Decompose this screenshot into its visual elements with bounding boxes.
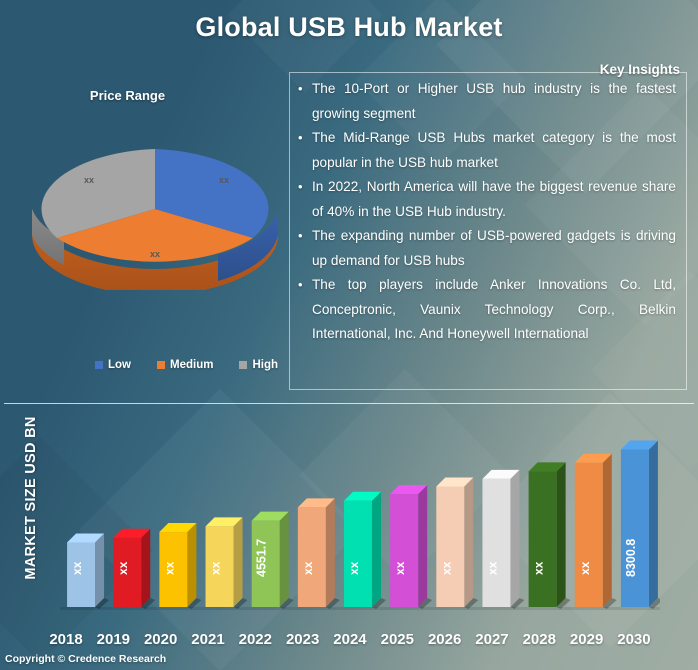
legend-item-medium[interactable]: Medium	[157, 359, 213, 371]
pie-chart-legend: Low Medium High	[95, 355, 295, 375]
bar-front-face	[575, 463, 603, 607]
x-tick-label: 2029	[566, 631, 608, 648]
bar-column: xx	[575, 454, 617, 609]
bar-chart-y-axis-label: MARKET SIZE USD BN	[23, 413, 39, 583]
bar-data-label: xx	[532, 561, 546, 575]
key-insights-title: Key Insights	[600, 62, 680, 77]
x-tick-label: 2024	[329, 631, 371, 648]
pie-chart-title: Price Range	[0, 88, 255, 103]
bar-side-face	[418, 485, 427, 607]
bar-data-label: xx	[439, 561, 453, 575]
x-tick-label: 2026	[424, 631, 466, 648]
bar-column: xx	[113, 529, 155, 609]
bar-data-label: xx	[578, 561, 592, 575]
bar-side-face	[234, 517, 243, 607]
bar-chart-baseline	[60, 607, 660, 610]
x-tick-label: 2025	[376, 631, 418, 648]
bar-data-label: 8300.8	[624, 539, 638, 577]
bar-side-face	[372, 492, 381, 607]
bar-front-face	[390, 494, 418, 607]
pie-slice-label: xx	[150, 249, 160, 259]
bar-chart-x-axis: 2018 2019 2020 2021 2022 2023 2024 2025 …	[45, 631, 655, 648]
legend-item-high[interactable]: High	[239, 359, 278, 371]
bar-column: xx	[390, 485, 432, 609]
bar-column: xx	[67, 533, 109, 609]
bar-side-face	[141, 529, 150, 607]
legend-label: Low	[108, 359, 131, 371]
bar-chart-svg: xxxxxxxx4551.7xxxxxxxxxxxxxx8300.8	[60, 425, 660, 620]
legend-label: High	[252, 359, 278, 371]
bar-column: xx	[436, 477, 478, 609]
bar-data-label: xx	[209, 561, 223, 575]
legend-item-low[interactable]: Low	[95, 359, 131, 371]
bar-side-face	[510, 470, 519, 607]
pie-chart-svg: xx xx xx	[22, 125, 287, 290]
bar-data-label: xx	[393, 561, 407, 575]
x-tick-label: 2027	[471, 631, 513, 648]
bar-data-label: xx	[116, 561, 130, 575]
bar-side-face	[603, 454, 612, 607]
bar-side-face	[649, 440, 658, 607]
pie-slice-label: xx	[219, 175, 229, 185]
x-tick-label: 2030	[613, 631, 655, 648]
bar-data-label: 4551.7	[255, 539, 269, 577]
bar-side-face	[326, 498, 335, 607]
legend-label: Medium	[170, 359, 213, 371]
bar-column: 8300.8	[621, 440, 660, 609]
bar-side-face	[187, 523, 196, 607]
bar-column: xx	[159, 523, 201, 609]
bar-front-face	[298, 507, 326, 607]
bar-column: xx	[482, 470, 524, 609]
bar-data-label: xx	[70, 561, 84, 575]
x-tick-label: 2023	[282, 631, 324, 648]
bar-side-face	[280, 512, 289, 607]
page-title: Global USB Hub Market	[0, 12, 698, 43]
bar-column: xx	[529, 462, 571, 609]
bar-data-label: xx	[485, 561, 499, 575]
bar-column: xx	[298, 498, 340, 609]
key-insights-box: The 10-Port or Higher USB hub industry i…	[289, 72, 687, 390]
key-insights-list: The 10-Port or Higher USB hub industry i…	[290, 73, 686, 347]
bar-front-face	[529, 471, 557, 607]
bar-front-face	[482, 479, 510, 607]
x-tick-label: 2028	[518, 631, 560, 648]
bar-front-face	[344, 501, 372, 607]
pie-slice-label: xx	[84, 175, 94, 185]
bar-side-face	[95, 533, 104, 607]
x-tick-label: 2018	[45, 631, 87, 648]
bar-column: xx	[344, 492, 386, 609]
bar-side-face	[557, 462, 566, 607]
x-tick-label: 2019	[92, 631, 134, 648]
bar-column: xx	[206, 517, 248, 609]
legend-swatch-icon	[95, 361, 103, 369]
x-tick-label: 2021	[187, 631, 229, 648]
bar-data-label: xx	[162, 561, 176, 575]
key-insight-item: In 2022, North America will have the big…	[298, 175, 676, 224]
bar-column: 4551.7	[252, 512, 294, 609]
section-divider	[4, 403, 694, 404]
bar-chart: xxxxxxxx4551.7xxxxxxxxxxxxxx8300.8	[60, 425, 660, 620]
bar-front-face	[436, 486, 464, 607]
infographic-canvas: Global USB Hub Market Price Range	[0, 0, 698, 670]
x-tick-label: 2020	[140, 631, 182, 648]
key-insight-item: The 10-Port or Higher USB hub industry i…	[298, 77, 676, 126]
pie-chart: xx xx xx	[22, 125, 287, 285]
bar-side-face	[464, 477, 473, 607]
key-insight-item: The expanding number of USB-powered gadg…	[298, 224, 676, 273]
legend-swatch-icon	[239, 361, 247, 369]
x-tick-label: 2022	[234, 631, 276, 648]
legend-swatch-icon	[157, 361, 165, 369]
copyright-notice: Copyright © Credence Research	[5, 653, 166, 665]
key-insight-item: The top players include Anker Innovation…	[298, 273, 676, 347]
key-insight-item: The Mid-Range USB Hubs market category i…	[298, 126, 676, 175]
bar-front-face	[621, 449, 649, 607]
bar-data-label: xx	[347, 561, 361, 575]
bar-data-label: xx	[301, 561, 315, 575]
